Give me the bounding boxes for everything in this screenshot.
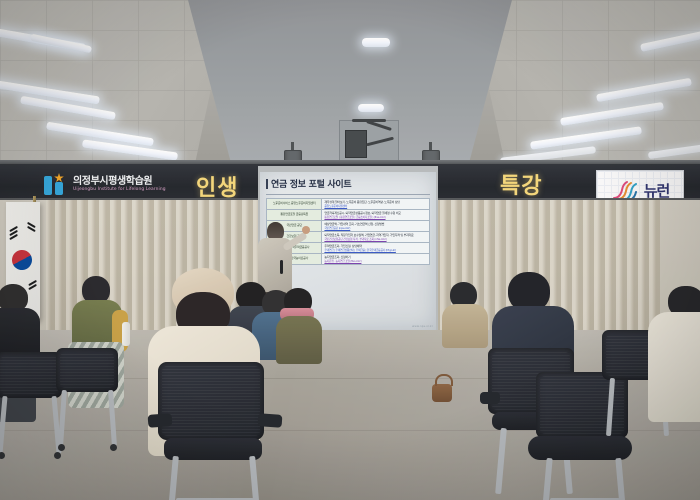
water-bottle (122, 322, 130, 346)
slide-row-link[interactable]: 통합연금포털 ( 통합연금포털 | 금융소비자포털 ) (fine.or.kr) (324, 215, 427, 219)
ceiling-lamp (362, 38, 390, 47)
slide-row-value: 재무설계 알아보기, 노후준비 종합진단, 노후준비역량, 노후준비 상담중앙노… (322, 199, 430, 210)
ceiling-lamp (358, 104, 384, 112)
lecture-hall-photo: 의정부시평생학습원 Uijeongbu Institute for Lifelo… (0, 0, 700, 500)
institute-name-english: Uijeongbu Institute for Lifelong Learnin… (73, 187, 166, 193)
banner-headline-right: 특강 (500, 168, 542, 200)
taegeuk-symbol (8, 246, 35, 273)
slide-title: 연금 정보 포털 사이트 (271, 177, 351, 190)
attendee-torso (276, 316, 322, 364)
slide-row-link[interactable]: 국민건강보험공단 건강보험 자격 · 부과자료 조회 (nhis.or.kr) (324, 237, 427, 241)
attendee-torso (442, 304, 488, 348)
slide-row-link[interactable]: 중앙노후준비지원센터 (324, 204, 427, 208)
slide-row-label: 통합연금포털 금융감독원 (267, 210, 322, 221)
projector-icon (345, 130, 367, 158)
slide-row-value: 퇴직연금소득, 직장가입자 보수월액, 기업연금, 지역가입자, 가입자격 및 … (322, 232, 430, 243)
slide-watermark: www.nps.or.kr (412, 325, 433, 328)
slide-table-row: 국민연금 공단예상연금액, 가입내역 조회, 기초연금액 산정, 신청방법국민연… (267, 221, 430, 232)
slide-table-row: 통합연금포털 금융감독원연금저축계산공시, 퇴직연금상품공시정보, 퇴직연금 절… (267, 210, 430, 221)
slide-table-row: 노후준비서비스 중앙노후준비지원센터재무설계 알아보기, 노후준비 종합진단, … (267, 199, 430, 210)
slide-row-value: 농지연금조회, 신청하기농지은행 · 농지연금 포털 (fbo.or.kr) (322, 254, 430, 265)
presenter-hand (302, 226, 310, 234)
handbag-strap (435, 374, 453, 386)
slide-row-label: 노후준비서비스 중앙노후준비지원센터 (267, 199, 322, 210)
slide-row-value: 예상연금액, 가입내역 조회, 기초연금액 산정, 신청방법국민연금공단 (np… (322, 221, 430, 232)
li-star-logo-icon (44, 172, 68, 196)
slide-row-link[interactable]: 국민연금공단 (nps.or.kr) (324, 226, 427, 230)
slide-title-rule (266, 194, 430, 195)
ceiling (0, 0, 700, 172)
slide-row-value: 주택연금조회, 가입신청, 상담예약주택연금 | 주택연금상품안내 | 주택금융… (322, 243, 430, 254)
institute-name-korean: 의정부시평생학습원 (73, 176, 166, 187)
slide-row-link[interactable]: 농지은행 · 농지연금 포털 (fbo.or.kr) (324, 259, 427, 263)
slide-title-accent (266, 179, 268, 189)
microphone (280, 260, 283, 274)
attendee-torso (648, 312, 700, 422)
handbag (432, 384, 452, 402)
institute-logo: 의정부시평생학습원 Uijeongbu Institute for Lifelo… (44, 172, 166, 196)
slide-row-link[interactable]: 주택연금 | 주택연금상품안내 | 주택금융 | 한국주택금융공사 (hf.go… (324, 248, 427, 252)
projector-arm (352, 119, 386, 122)
slide-row-value: 연금저축계산공시, 퇴직연금상품공시정보, 퇴직연금 절세형 수령 비교통합연금… (322, 210, 430, 221)
